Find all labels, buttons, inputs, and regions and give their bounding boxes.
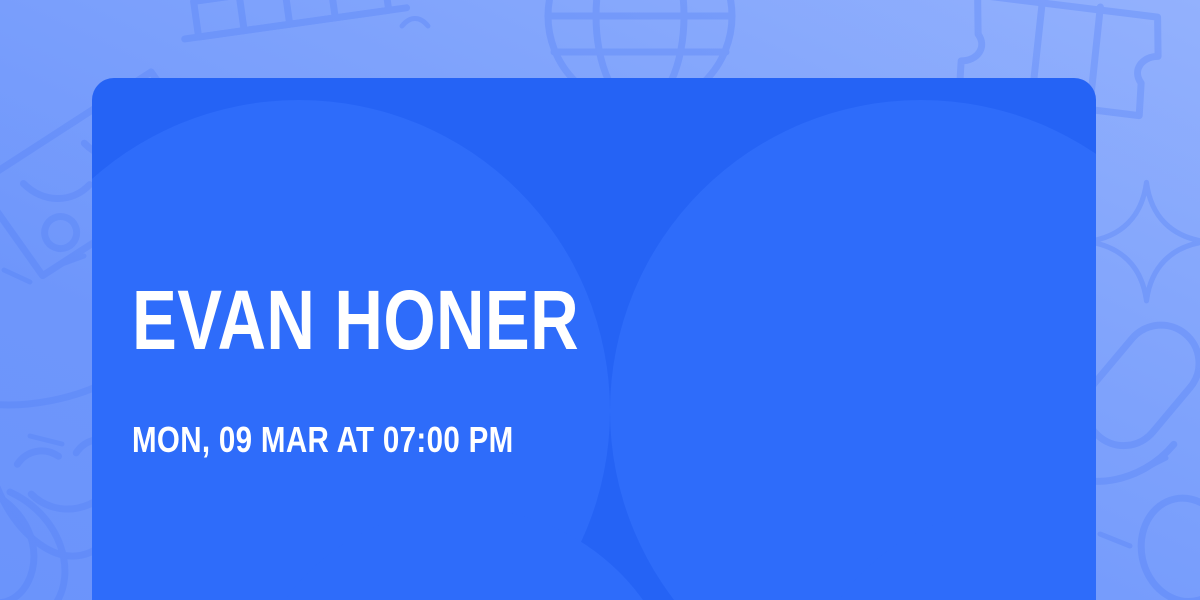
event-datetime: MON, 09 MAR AT 07:00 PM — [132, 418, 514, 462]
ticket-stub-icon — [1132, 490, 1200, 600]
event-card-content: EVAN HONER MON, 09 MAR AT 07:00 PM — [132, 78, 1096, 600]
sparkle-icon — [1087, 182, 1200, 300]
piano-icon — [172, 0, 406, 39]
confetti-icon — [0, 486, 65, 600]
event-banner: EVAN HONER MON, 09 MAR AT 07:00 PM — [0, 0, 1200, 600]
event-card[interactable]: EVAN HONER MON, 09 MAR AT 07:00 PM — [92, 78, 1096, 600]
event-title: EVAN HONER — [132, 274, 579, 366]
